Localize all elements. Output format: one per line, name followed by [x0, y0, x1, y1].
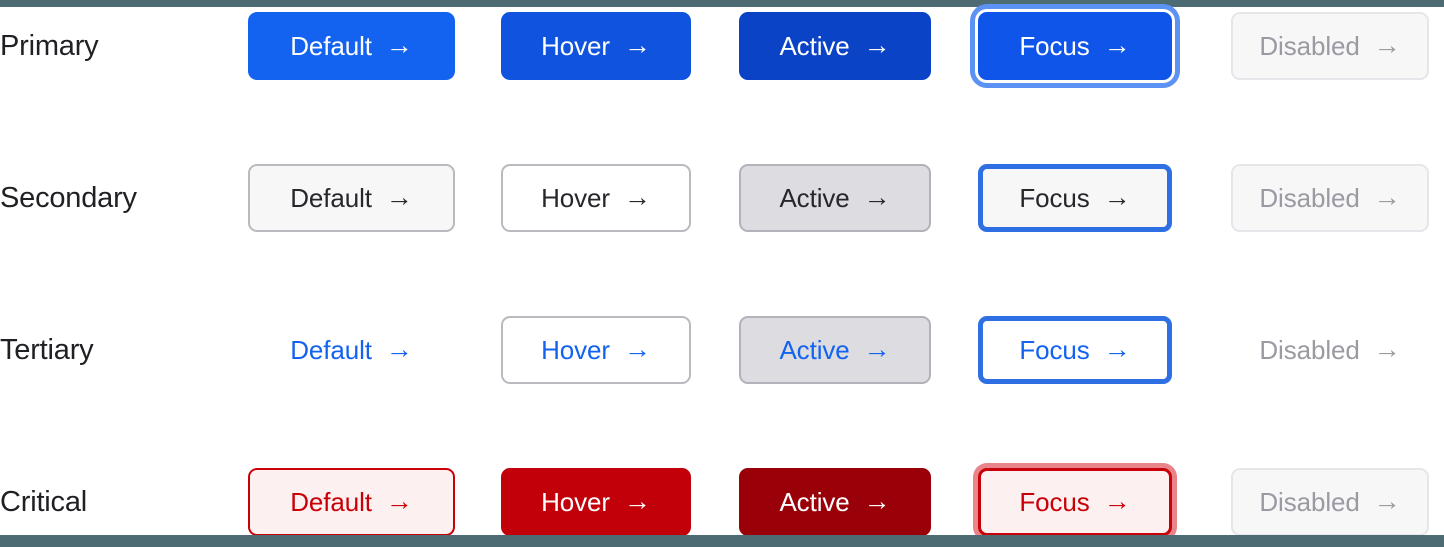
button-state-matrix: Primary Default → Hover → Active → Focus…: [0, 0, 1444, 547]
tertiary-active-label: Active: [779, 335, 849, 366]
secondary-disabled-button: Disabled →: [1231, 164, 1428, 232]
cell-primary-active: Active →: [739, 12, 931, 80]
secondary-focus-button[interactable]: Focus →: [978, 164, 1172, 232]
arrow-right-icon: →: [1104, 184, 1131, 211]
arrow-right-icon: →: [864, 184, 891, 211]
secondary-default-label: Default: [290, 183, 372, 214]
row-label-primary: Primary: [0, 12, 248, 80]
tertiary-default-label: Default: [290, 335, 372, 366]
tertiary-default-button[interactable]: Default →: [262, 316, 441, 384]
cell-critical-hover: Hover →: [501, 468, 691, 536]
cell-primary-focus: Focus →: [978, 12, 1172, 80]
cell-secondary-default: Default →: [248, 164, 455, 232]
arrow-right-icon: →: [1374, 488, 1401, 515]
critical-hover-button[interactable]: Hover →: [501, 468, 691, 536]
cell-tertiary-default: Default →: [248, 316, 455, 384]
arrow-right-icon: →: [386, 184, 413, 211]
cell-critical-focus: Focus →: [978, 468, 1172, 536]
tertiary-focus-label: Focus: [1019, 335, 1089, 366]
critical-focus-button[interactable]: Focus →: [978, 468, 1172, 536]
primary-default-label: Default: [290, 31, 372, 62]
primary-default-button[interactable]: Default →: [248, 12, 455, 80]
button-row-critical: Critical Default → Hover → Active → Focu…: [0, 468, 1444, 536]
secondary-active-button[interactable]: Active →: [739, 164, 931, 232]
secondary-hover-button[interactable]: Hover →: [501, 164, 691, 232]
secondary-active-label: Active: [779, 183, 849, 214]
tertiary-disabled-label: Disabled: [1259, 335, 1359, 366]
primary-focus-button[interactable]: Focus →: [978, 12, 1172, 80]
primary-focus-label: Focus: [1019, 31, 1089, 62]
arrow-right-icon: →: [1104, 488, 1131, 515]
critical-focus-label: Focus: [1019, 487, 1089, 518]
arrow-right-icon: →: [386, 336, 413, 363]
cell-secondary-hover: Hover →: [501, 164, 691, 232]
cell-critical-disabled: Disabled →: [1216, 468, 1444, 536]
cell-secondary-disabled: Disabled →: [1216, 164, 1444, 232]
primary-hover-label: Hover: [541, 31, 610, 62]
arrow-right-icon: →: [624, 488, 651, 515]
tertiary-disabled-button: Disabled →: [1231, 316, 1428, 384]
arrow-right-icon: →: [1374, 32, 1401, 59]
arrow-right-icon: →: [864, 32, 891, 59]
arrow-right-icon: →: [386, 488, 413, 515]
primary-active-label: Active: [779, 31, 849, 62]
arrow-right-icon: →: [1374, 336, 1401, 363]
arrow-right-icon: →: [864, 488, 891, 515]
cell-tertiary-active: Active →: [739, 316, 931, 384]
cell-secondary-active: Active →: [739, 164, 931, 232]
tertiary-hover-label: Hover: [541, 335, 610, 366]
critical-active-label: Active: [779, 487, 849, 518]
critical-active-button[interactable]: Active →: [739, 468, 931, 536]
primary-hover-button[interactable]: Hover →: [501, 12, 691, 80]
arrow-right-icon: →: [624, 184, 651, 211]
tertiary-focus-button[interactable]: Focus →: [978, 316, 1172, 384]
row-label-critical: Critical: [0, 468, 248, 536]
cell-tertiary-disabled: Disabled →: [1216, 316, 1444, 384]
arrow-right-icon: →: [1104, 336, 1131, 363]
critical-default-button[interactable]: Default →: [248, 468, 455, 536]
tertiary-hover-button[interactable]: Hover →: [501, 316, 691, 384]
critical-default-label: Default: [290, 487, 372, 518]
arrow-right-icon: →: [1104, 32, 1131, 59]
primary-disabled-button: Disabled →: [1231, 12, 1428, 80]
arrow-right-icon: →: [386, 32, 413, 59]
arrow-right-icon: →: [624, 32, 651, 59]
arrow-right-icon: →: [864, 336, 891, 363]
cell-tertiary-hover: Hover →: [501, 316, 691, 384]
primary-active-button[interactable]: Active →: [739, 12, 931, 80]
primary-disabled-label: Disabled: [1259, 31, 1359, 62]
critical-disabled-label: Disabled: [1259, 487, 1359, 518]
cell-primary-default: Default →: [248, 12, 455, 80]
secondary-disabled-label: Disabled: [1259, 183, 1359, 214]
cell-critical-default: Default →: [248, 468, 455, 536]
row-label-tertiary: Tertiary: [0, 316, 248, 384]
button-row-primary: Primary Default → Hover → Active → Focus…: [0, 12, 1444, 80]
cell-primary-hover: Hover →: [501, 12, 691, 80]
button-row-tertiary: Tertiary Default → Hover → Active → Focu…: [0, 316, 1444, 384]
critical-disabled-button: Disabled →: [1231, 468, 1428, 536]
bottom-edge-bar: [0, 535, 1444, 547]
cell-secondary-focus: Focus →: [978, 164, 1172, 232]
secondary-hover-label: Hover: [541, 183, 610, 214]
secondary-default-button[interactable]: Default →: [248, 164, 455, 232]
tertiary-active-button[interactable]: Active →: [739, 316, 931, 384]
critical-hover-label: Hover: [541, 487, 610, 518]
cell-tertiary-focus: Focus →: [978, 316, 1172, 384]
arrow-right-icon: →: [1374, 184, 1401, 211]
cell-primary-disabled: Disabled →: [1216, 12, 1444, 80]
secondary-focus-label: Focus: [1019, 183, 1089, 214]
cell-critical-active: Active →: [739, 468, 931, 536]
row-label-secondary: Secondary: [0, 164, 248, 232]
arrow-right-icon: →: [624, 336, 651, 363]
button-row-secondary: Secondary Default → Hover → Active → Foc…: [0, 164, 1444, 232]
